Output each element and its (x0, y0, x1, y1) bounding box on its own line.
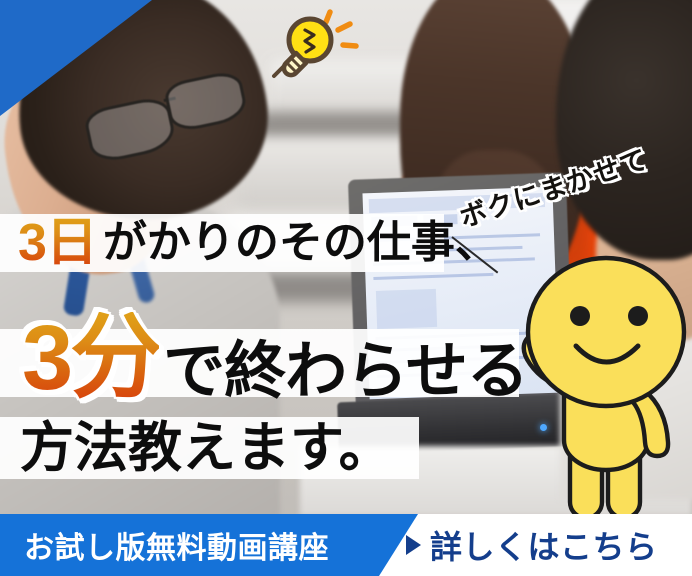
cta-badge-label: お試し版無料動画講座 (24, 514, 329, 576)
headline-line-2-rest: で終わらせる (163, 341, 528, 403)
headline-line-1-rest: がかりのその仕事、 (103, 221, 499, 265)
corner-accent-dark-blue (0, 0, 152, 116)
headline-highlight-3days: 3日 (18, 217, 97, 269)
ad-banner: ボクにまかせて 3日 がかりのその仕事、 3分 で終わらせる 方法教えます (0, 0, 692, 576)
mascot-eye-right (628, 306, 648, 326)
headline-line-1: 3日 がかりのその仕事、 (18, 213, 499, 273)
cta-bar[interactable]: お試し版無料動画講座 詳しくはこちら (0, 514, 692, 576)
headline-line-2: 3分 で終わらせる (22, 301, 528, 399)
play-triangle-icon (406, 535, 421, 555)
headline-line-3-text: 方法教えます。 (20, 421, 393, 475)
cta-details-link[interactable]: 詳しくはこちら (406, 514, 658, 576)
cta-link-label: 詳しくはこちら (430, 522, 658, 568)
lightbulb-icon (258, 8, 362, 80)
headline-highlight-3min: 3分 (22, 312, 159, 404)
mascot-eye-left (570, 306, 590, 326)
headline-line-3: 方法教えます。 (20, 416, 393, 480)
